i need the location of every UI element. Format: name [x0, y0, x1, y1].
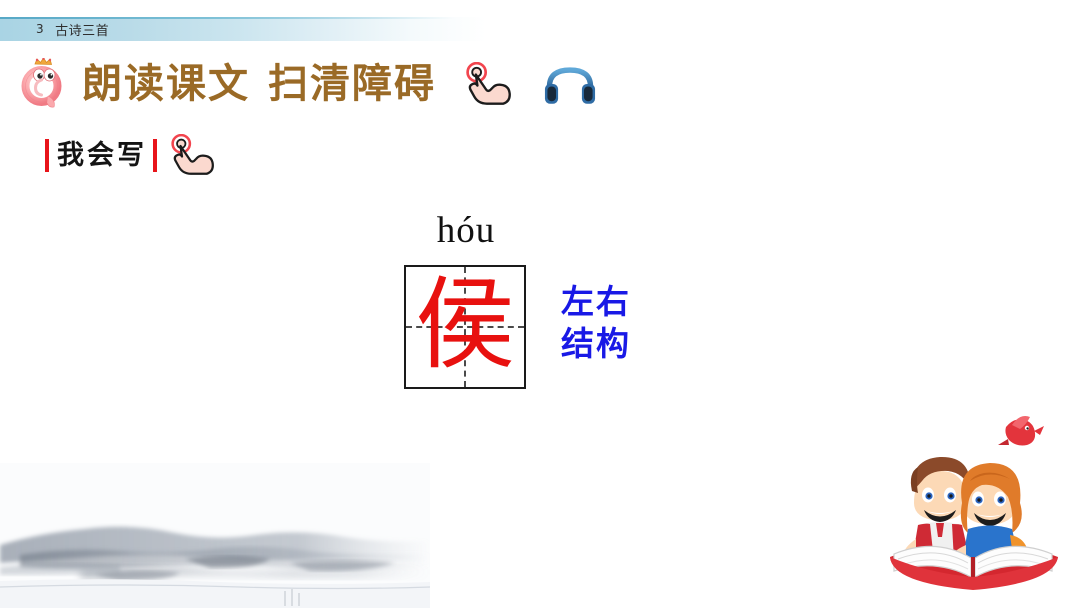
write-section-label: 我会写	[45, 134, 219, 176]
structure-label: 左右 结构	[561, 281, 631, 365]
character-grid-box: 侯	[404, 265, 526, 389]
write-label-text: 我会写	[49, 142, 153, 169]
right-red-bar	[153, 139, 157, 172]
headphones-icon[interactable]	[542, 61, 598, 107]
structure-line-1: 左右	[561, 281, 631, 323]
character-glyph: 侯	[406, 267, 524, 387]
lesson-number: 3	[36, 22, 44, 36]
red-bird-icon	[998, 416, 1044, 445]
heading-part2: 扫清障碍	[268, 61, 436, 107]
lesson-title: 古诗三首	[55, 20, 109, 39]
slide-canvas: 3 古诗三首	[0, 0, 1080, 608]
kids-on-book-illustration	[878, 411, 1068, 596]
ink-wash-landscape	[0, 463, 430, 608]
tap-hand-icon[interactable]	[464, 62, 516, 106]
heading-part1: 朗读课文	[82, 61, 250, 107]
heading-text: 朗读课文扫清障碍	[82, 64, 436, 104]
structure-line-2: 结构	[561, 323, 631, 365]
breadcrumb: 3 古诗三首	[36, 18, 109, 40]
q-mascot-icon	[18, 58, 68, 110]
character-card: hóu 侯 左右 结构	[404, 212, 631, 389]
pinyin-text: hóu	[404, 212, 528, 249]
section-heading: 朗读课文扫清障碍	[18, 58, 598, 110]
tap-hand-icon[interactable]	[169, 134, 219, 176]
header-bar	[0, 17, 1080, 41]
